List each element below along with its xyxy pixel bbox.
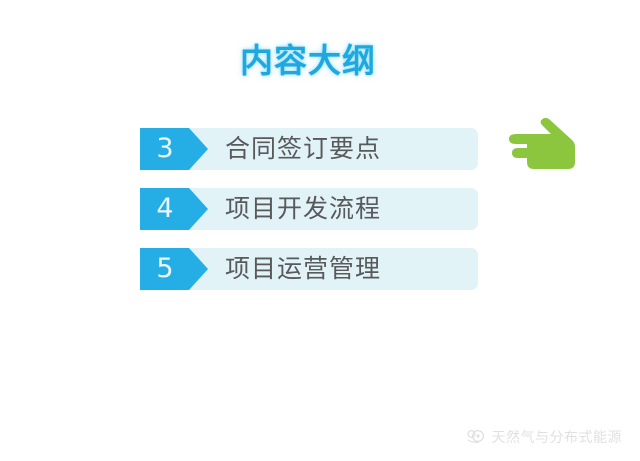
watermark-text: 天然气与分布式能源 [492, 427, 623, 447]
list-item-number: 3 [140, 128, 190, 170]
pointing-hand-right-icon [504, 117, 580, 177]
slide-canvas: 内容大纲 3 合同签订要点 4 项目开发流程 5 项目运营管理 [0, 0, 640, 461]
logo-icon [465, 427, 485, 447]
list-item-label: 项目运营管理 [225, 248, 381, 290]
watermark: 天然气与分布式能源 [465, 427, 623, 447]
page-title: 内容大纲 [0, 44, 616, 77]
list-item[interactable]: 5 项目运营管理 [140, 248, 480, 290]
list-item[interactable]: 4 项目开发流程 [140, 188, 480, 230]
list-item-label: 合同签订要点 [225, 128, 381, 170]
list-item-number: 5 [140, 248, 190, 290]
list-item-number: 4 [140, 188, 190, 230]
list-item-label: 项目开发流程 [225, 188, 381, 230]
outline-list: 3 合同签订要点 4 项目开发流程 5 项目运营管理 [140, 128, 480, 308]
list-item[interactable]: 3 合同签订要点 [140, 128, 480, 170]
